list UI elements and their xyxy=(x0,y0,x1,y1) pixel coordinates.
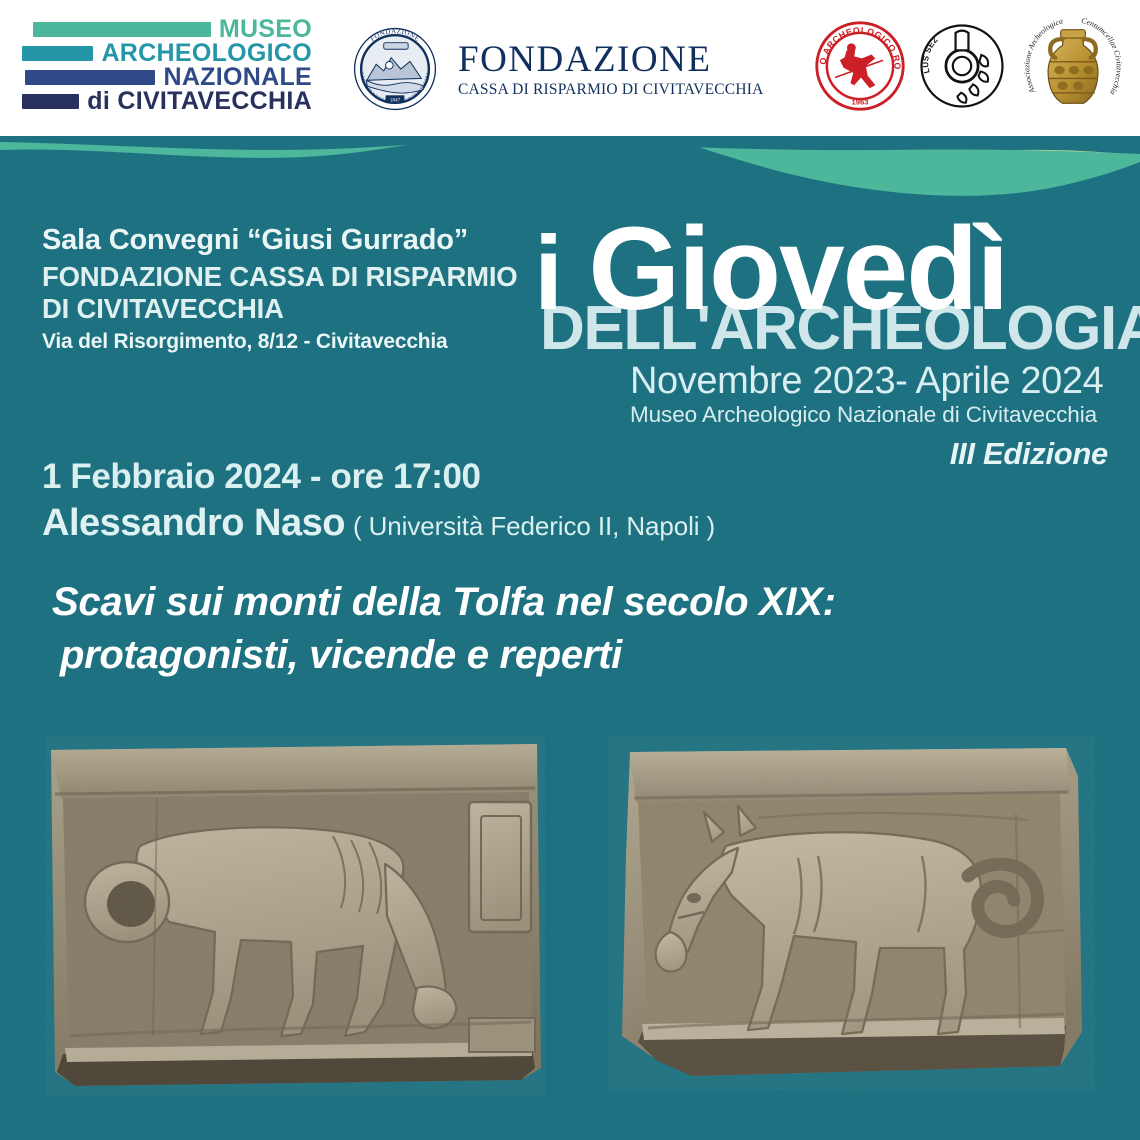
event-poster: MUSEO ARCHEOLOGICO NAZIONALE di CIVITAVE… xyxy=(0,0,1140,1140)
header-logo-band: MUSEO ARCHEOLOGICO NAZIONALE di CIVITAVE… xyxy=(0,0,1140,136)
series-title-main: Giovedì xyxy=(588,203,1007,335)
talk-block: 1 Febbraio 2024 - ore 17:00 Alessandro N… xyxy=(42,458,1102,682)
museo-logo-line-museo: MUSEO xyxy=(22,17,312,41)
fondazione-subtitle: CASSA DI RISPARMIO DI CIVITAVECCHIA xyxy=(458,82,763,98)
museo-bar-2 xyxy=(22,46,93,61)
series-title: i Giovedì xyxy=(534,210,1007,328)
museo-word-2: ARCHEOLOGICO xyxy=(101,41,312,66)
venue-hall-name: Sala Convegni “Giusi Gurrado” xyxy=(42,224,542,256)
series-place: Museo Archeologico Nazionale di Civitave… xyxy=(630,404,1097,427)
talk-date-time: 1 Febbraio 2024 - ore 17:00 xyxy=(42,458,1102,497)
venue-organization-line1: FONDAZIONE CASSA DI RISPARMIO xyxy=(42,261,542,292)
museo-word-3: NAZIONALE xyxy=(163,65,312,90)
gruppo-archeologico-romano-logo-icon: GRUPPO ARCHEOLOGICO ROMANO 1963 xyxy=(812,18,908,114)
museo-archeologico-logo: MUSEO ARCHEOLOGICO NAZIONALE di CIVITAVE… xyxy=(22,17,312,113)
stone-relief-grazing-equine xyxy=(45,736,545,1096)
associazione-archeologica-centumcellae-logo-icon: Associazione Archeologica Centumcellae C… xyxy=(1016,14,1130,118)
fondazione-wordmark: FONDAZIONE CASSA DI RISPARMIO DI CIVITAV… xyxy=(458,41,763,98)
talk-title: Scavi sui monti della Tolfa nel secolo X… xyxy=(42,576,1102,682)
fondazione-cassa-risparmio-logo: FONDAZIONE CASSA DI RISPARMIO DI CIVITAV… xyxy=(348,22,763,116)
venue-organization-line2: DI CIVITAVECCHIA xyxy=(42,293,542,324)
partner-logos: GRUPPO ARCHEOLOGICO ROMANO 1963 xyxy=(812,14,1130,118)
venue-address: Via del Risorgimento, 8/12 - Civitavecch… xyxy=(42,329,542,354)
museo-word-4: di CIVITAVECCHIA xyxy=(87,89,312,114)
talk-speaker-row: Alessandro Naso ( Università Federico II… xyxy=(42,503,1102,545)
gar-onlus-sez-ulpia-logo-icon: GAR ONLUS SEZ. ULPIA xyxy=(916,20,1008,112)
museo-bar-1 xyxy=(33,22,211,37)
museo-logo-line-civitavecchia: di CIVITAVECCHIA xyxy=(22,89,312,113)
venue-block: Sala Convegni “Giusi Gurrado” FONDAZIONE… xyxy=(42,224,542,354)
talk-title-line1: Scavi sui monti della Tolfa nel secolo X… xyxy=(52,580,836,624)
series-dates: Novembre 2023- Aprile 2024 xyxy=(630,362,1103,400)
talk-title-line2: protagonisti, vicende e reperti xyxy=(52,629,1102,682)
museo-logo-line-nazionale: NAZIONALE xyxy=(22,65,312,89)
talk-speaker-affiliation: ( Università Federico II, Napoli ) xyxy=(353,512,715,541)
museo-logo-line-archeologico: ARCHEOLOGICO xyxy=(22,41,312,65)
svg-text:1847: 1847 xyxy=(390,98,401,104)
fondazione-seal-icon: FONDAZIONE CASSA DI RISPARMIO DI CIVITAV… xyxy=(348,22,442,116)
museo-bar-3 xyxy=(25,70,155,85)
museo-bar-4 xyxy=(22,94,79,109)
svg-text:1963: 1963 xyxy=(851,97,868,106)
stone-relief-walking-equine xyxy=(608,736,1095,1091)
museo-word-1: MUSEO xyxy=(219,17,312,42)
series-title-block: DELL'ARCHEOLOGIA i Giovedì Novembre 2023… xyxy=(520,210,1120,470)
talk-speaker-name: Alessandro Naso xyxy=(42,503,345,545)
fondazione-title: FONDAZIONE xyxy=(458,41,763,78)
